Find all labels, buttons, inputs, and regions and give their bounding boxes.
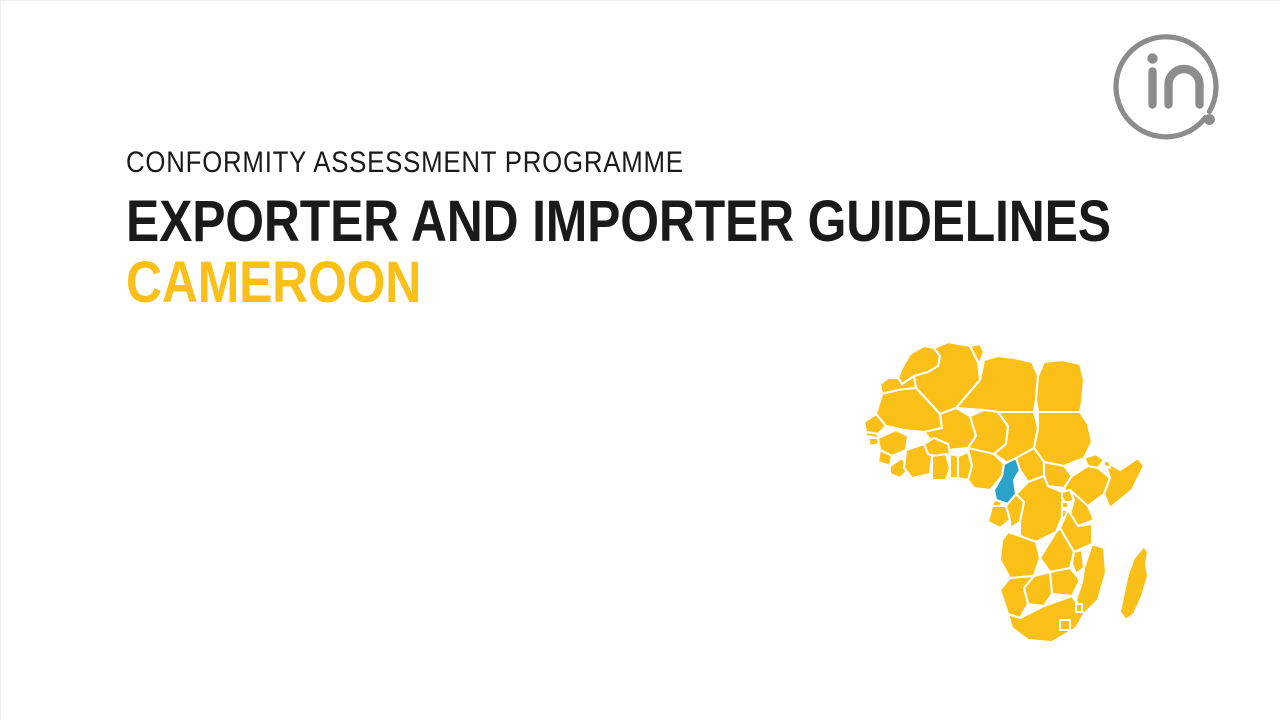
country-malawi bbox=[1072, 550, 1084, 574]
country-madagascar bbox=[1120, 546, 1148, 620]
logo-dot bbox=[1204, 114, 1215, 125]
page-title: EXPORTER AND IMPORTER GUIDELINES bbox=[126, 192, 986, 252]
country-subtitle: CAMEROON bbox=[126, 253, 986, 313]
country-djibouti bbox=[1104, 460, 1110, 468]
country-togo bbox=[950, 454, 958, 478]
country-eswatini bbox=[1076, 604, 1082, 612]
africa-map bbox=[848, 332, 1178, 654]
programme-eyebrow: CONFORMITY ASSESSMENT PROGRAMME bbox=[126, 146, 986, 180]
country-egypt bbox=[1036, 360, 1084, 412]
country-lesotho bbox=[1060, 620, 1070, 630]
logo-letter-i-dot bbox=[1147, 53, 1157, 63]
country-rwanda bbox=[1062, 502, 1068, 508]
title-slide: CONFORMITY ASSESSMENT PROGRAMME EXPORTER… bbox=[0, 0, 1280, 720]
country-ghana bbox=[932, 454, 950, 480]
logo-letter-n bbox=[1169, 69, 1200, 105]
africa-map-svg bbox=[848, 332, 1178, 654]
title-block: CONFORMITY ASSESSMENT PROGRAMME EXPORTER… bbox=[126, 146, 1126, 313]
intertek-in-logo bbox=[1113, 22, 1231, 140]
